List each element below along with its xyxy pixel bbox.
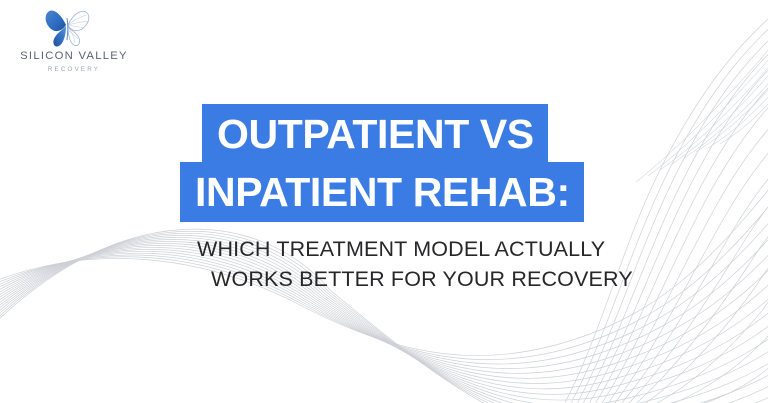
subtitle-line-1: WHICH TREATMENT MODEL ACTUALLY <box>197 234 597 264</box>
headline-row-1: OUTPATIENT VS <box>180 104 610 162</box>
brand-logo[interactable]: SILICON VALLEY RECOVERY <box>14 6 134 82</box>
butterfly-logo-icon <box>38 6 96 50</box>
page-title: OUTPATIENT VS INPATIENT REHAB: <box>180 104 610 222</box>
headline-row-2: INPATIENT REHAB: <box>180 162 610 222</box>
brand-wordmark: SILICON VALLEY RECOVERY <box>14 50 134 75</box>
brand-subname: RECOVERY <box>14 64 134 75</box>
hero-banner: SILICON VALLEY RECOVERY OUTPATIENT VS IN… <box>0 0 768 403</box>
page-subtitle: WHICH TREATMENT MODEL ACTUALLY WORKS BET… <box>197 234 597 294</box>
subtitle-line-2: WORKS BETTER FOR YOUR RECOVERY <box>197 264 597 294</box>
headline-line-1: OUTPATIENT VS <box>202 104 548 162</box>
headline-line-2: INPATIENT REHAB: <box>180 162 584 222</box>
brand-name: SILICON VALLEY <box>14 50 134 63</box>
